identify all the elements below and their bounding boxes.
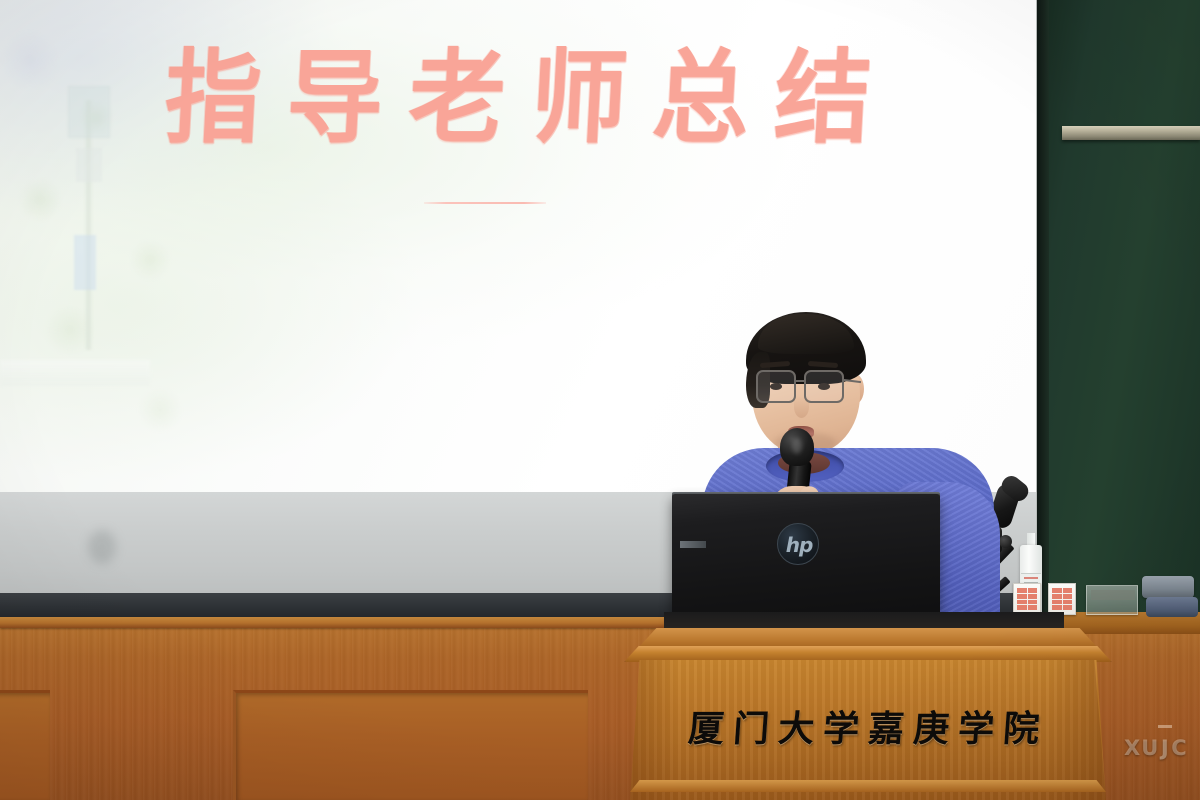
slide-title: 指导老师总结 bbox=[0, 45, 1039, 152]
blackboard bbox=[1036, 0, 1200, 612]
wood-panel bbox=[0, 690, 50, 800]
slide-railing bbox=[0, 360, 150, 386]
slide-lamppost-sign bbox=[74, 235, 96, 290]
glasses-lens-left bbox=[756, 370, 796, 403]
handheld-microphone-highlight bbox=[792, 438, 802, 454]
glasses-lens-right bbox=[804, 370, 844, 403]
wall-smudge bbox=[88, 530, 116, 564]
chalk-box bbox=[1013, 583, 1041, 615]
hp-logo-icon: hp bbox=[777, 523, 819, 565]
watermark: XUJC bbox=[1124, 736, 1188, 760]
watermark-suffix: C bbox=[1171, 736, 1187, 760]
slide-divider bbox=[424, 202, 546, 204]
podium-lip-molding bbox=[624, 646, 1112, 662]
slide-lamppost-box bbox=[76, 148, 102, 182]
blackboard-rail bbox=[1062, 126, 1200, 140]
clear-storage-box bbox=[1086, 585, 1138, 615]
glasses-bridge bbox=[795, 380, 806, 382]
monitor-sticker bbox=[680, 541, 706, 548]
wood-panel bbox=[233, 690, 588, 800]
board-eraser bbox=[1142, 576, 1194, 598]
mic-stand-knob bbox=[999, 535, 1012, 548]
presenter-nose bbox=[794, 396, 809, 418]
board-eraser bbox=[1146, 597, 1198, 617]
chalk-box bbox=[1048, 583, 1076, 615]
podium: 厦门大学嘉庚学院 bbox=[624, 628, 1112, 800]
blackboard-left-edge bbox=[1036, 0, 1049, 612]
podium-inscription: 厦门大学嘉庚学院 bbox=[662, 700, 1066, 752]
lecture-hall-scene: 指导老师总结 bbox=[0, 0, 1200, 800]
watermark-j-glyph: J bbox=[1159, 736, 1171, 760]
watermark-prefix: XU bbox=[1124, 736, 1159, 760]
hp-logo-text: hp bbox=[778, 524, 820, 566]
podium-top-surface bbox=[638, 628, 1098, 648]
podium-base-trim bbox=[630, 780, 1106, 792]
